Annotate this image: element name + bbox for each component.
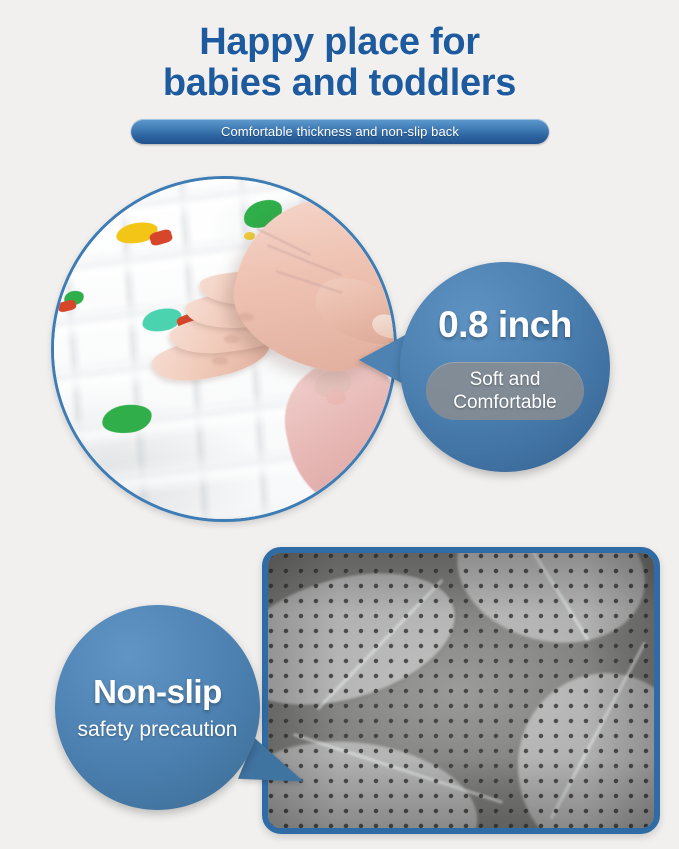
subtitle-text: Comfortable thickness and non-slip back (221, 124, 459, 139)
nonslip-title: Non-slip (55, 673, 260, 711)
subtitle-banner: Comfortable thickness and non-slip back (131, 119, 549, 144)
photo-vignette (268, 553, 654, 828)
comfort-pill-line-2: Comfortable (453, 391, 557, 414)
knuckle (238, 313, 254, 321)
knuckle (212, 357, 228, 365)
nonslip-subtitle: safety precaution (55, 718, 260, 742)
top-product-photo (51, 176, 397, 522)
feature-panel: Happy place for babies and toddlers Comf… (0, 0, 679, 849)
thickness-callout-badge: 0.8 inch Soft and Comfortable (400, 262, 610, 472)
knuckle (224, 335, 240, 343)
headline-line-1: Happy place for (0, 22, 679, 63)
bottom-product-photo (262, 547, 660, 834)
page-title: Happy place for babies and toddlers (0, 22, 679, 104)
nonslip-callout-badge: Non-slip safety precaution (55, 605, 260, 810)
comfort-pill-line-1: Soft and (470, 368, 541, 391)
hand-pressing-mattress (194, 187, 397, 437)
thickness-value: 0.8 inch (400, 304, 610, 346)
headline-line-2: babies and toddlers (0, 63, 679, 104)
comfort-pill: Soft and Comfortable (426, 362, 584, 420)
